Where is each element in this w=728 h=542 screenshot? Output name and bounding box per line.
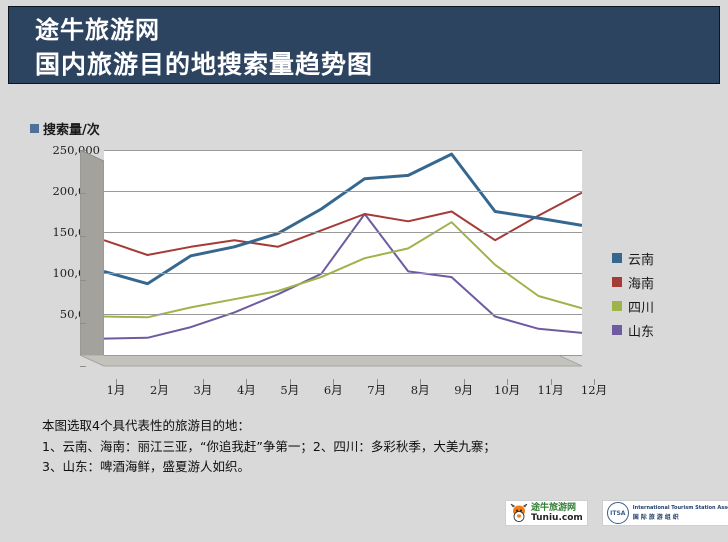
y-axis-tick	[80, 323, 86, 324]
header-title-line2: 国内旅游目的地搜索量趋势图	[35, 47, 719, 82]
x-axis-tick-label: 5月	[280, 382, 299, 398]
x-axis-tick-label: 10月	[494, 382, 520, 398]
x-axis-tick-label: 6月	[324, 382, 343, 398]
note-line-3: 3、山东：啤酒海鲜，盛夏游人如织。	[42, 457, 682, 478]
gridline	[104, 314, 582, 315]
itsa-logo-en: International Tourism Station Associatio…	[633, 504, 728, 513]
chart-side-wall-icon	[80, 150, 104, 378]
chart-floor-icon	[80, 355, 600, 379]
legend-marker-icon	[30, 124, 39, 133]
tuniu-logo-cn: 途牛旅游网	[531, 503, 583, 513]
legend-item-山东[interactable]: 山东	[612, 318, 712, 342]
y-axis-tick	[80, 280, 86, 281]
legend-item-云南[interactable]: 云南	[612, 246, 712, 270]
plot-area-3d	[104, 150, 582, 378]
value-axis-legend: 搜索量/次	[30, 119, 100, 138]
legend-swatch-icon	[612, 301, 622, 311]
tuniu-logo-en: Tuniu.com	[531, 513, 583, 523]
series-line-四川	[104, 222, 582, 317]
legend-swatch-icon	[612, 277, 622, 287]
y-axis-tick	[80, 366, 86, 367]
legend-swatch-icon	[612, 253, 622, 263]
x-axis-tick-label: 12月	[581, 382, 607, 398]
note-block: 本图选取4个具代表性的旅游目的地： 1、云南、海南：丽江三亚，“你追我赶”争第一…	[42, 416, 682, 478]
x-axis-tick-label: 9月	[454, 382, 473, 398]
value-axis-label: 搜索量/次	[43, 119, 100, 138]
itsa-logo: ITSA International Tourism Station Assoc…	[602, 500, 728, 526]
x-axis-tick-label: 11月	[537, 382, 563, 398]
itsa-logo-text: International Tourism Station Associatio…	[633, 504, 728, 522]
series-line-海南	[104, 193, 582, 255]
series-lines	[104, 150, 582, 355]
legend-item-海南[interactable]: 海南	[612, 270, 712, 294]
gridline	[104, 150, 582, 151]
series-line-云南	[104, 154, 582, 284]
logo-row: 途牛旅游网 Tuniu.com ITSA International Touri…	[505, 500, 728, 526]
legend-label: 海南	[628, 273, 654, 292]
gridline	[104, 273, 582, 274]
slide-root: 途牛旅游网 国内旅游目的地搜索量趋势图 搜索量/次 050,000100,000…	[0, 0, 728, 542]
x-axis-tick-label: 1月	[107, 382, 126, 398]
x-axis-tick-label: 7月	[367, 382, 386, 398]
note-line-1: 本图选取4个具代表性的旅游目的地：	[42, 416, 682, 437]
y-axis-tick	[80, 150, 86, 151]
tuniu-logo: 途牛旅游网 Tuniu.com	[505, 500, 588, 526]
chart-legend: 云南海南四川山东	[612, 246, 712, 342]
legend-label: 山东	[628, 321, 654, 340]
legend-label: 云南	[628, 249, 654, 268]
itsa-logo-cn: 国际旅游组织	[633, 513, 728, 522]
itsa-seal-icon: ITSA	[607, 502, 629, 524]
note-line-2: 1、云南、海南：丽江三亚，“你追我赶”争第一；2、四川：多彩秋季，大美九寨；	[42, 437, 682, 458]
gridline	[104, 191, 582, 192]
gridline	[104, 355, 582, 356]
x-axis-tick-label: 4月	[237, 382, 256, 398]
x-axis-tick-label: 2月	[150, 382, 169, 398]
plot-area	[104, 150, 582, 355]
y-axis-tick	[80, 193, 86, 194]
x-axis-tick-label: 3月	[193, 382, 212, 398]
slide-header: 途牛旅游网 国内旅游目的地搜索量趋势图	[8, 6, 720, 84]
cow-icon	[510, 503, 528, 523]
tuniu-logo-text: 途牛旅游网 Tuniu.com	[531, 503, 583, 523]
legend-label: 四川	[628, 297, 654, 316]
y-axis-tick	[80, 236, 86, 237]
header-title-line1: 途牛旅游网	[35, 13, 719, 47]
x-axis-tick-label: 8月	[411, 382, 430, 398]
legend-item-四川[interactable]: 四川	[612, 294, 712, 318]
gridline	[104, 232, 582, 233]
x-axis-labels: 1月2月3月4月5月6月7月8月9月10月11月12月	[104, 382, 604, 406]
legend-swatch-icon	[612, 325, 622, 335]
